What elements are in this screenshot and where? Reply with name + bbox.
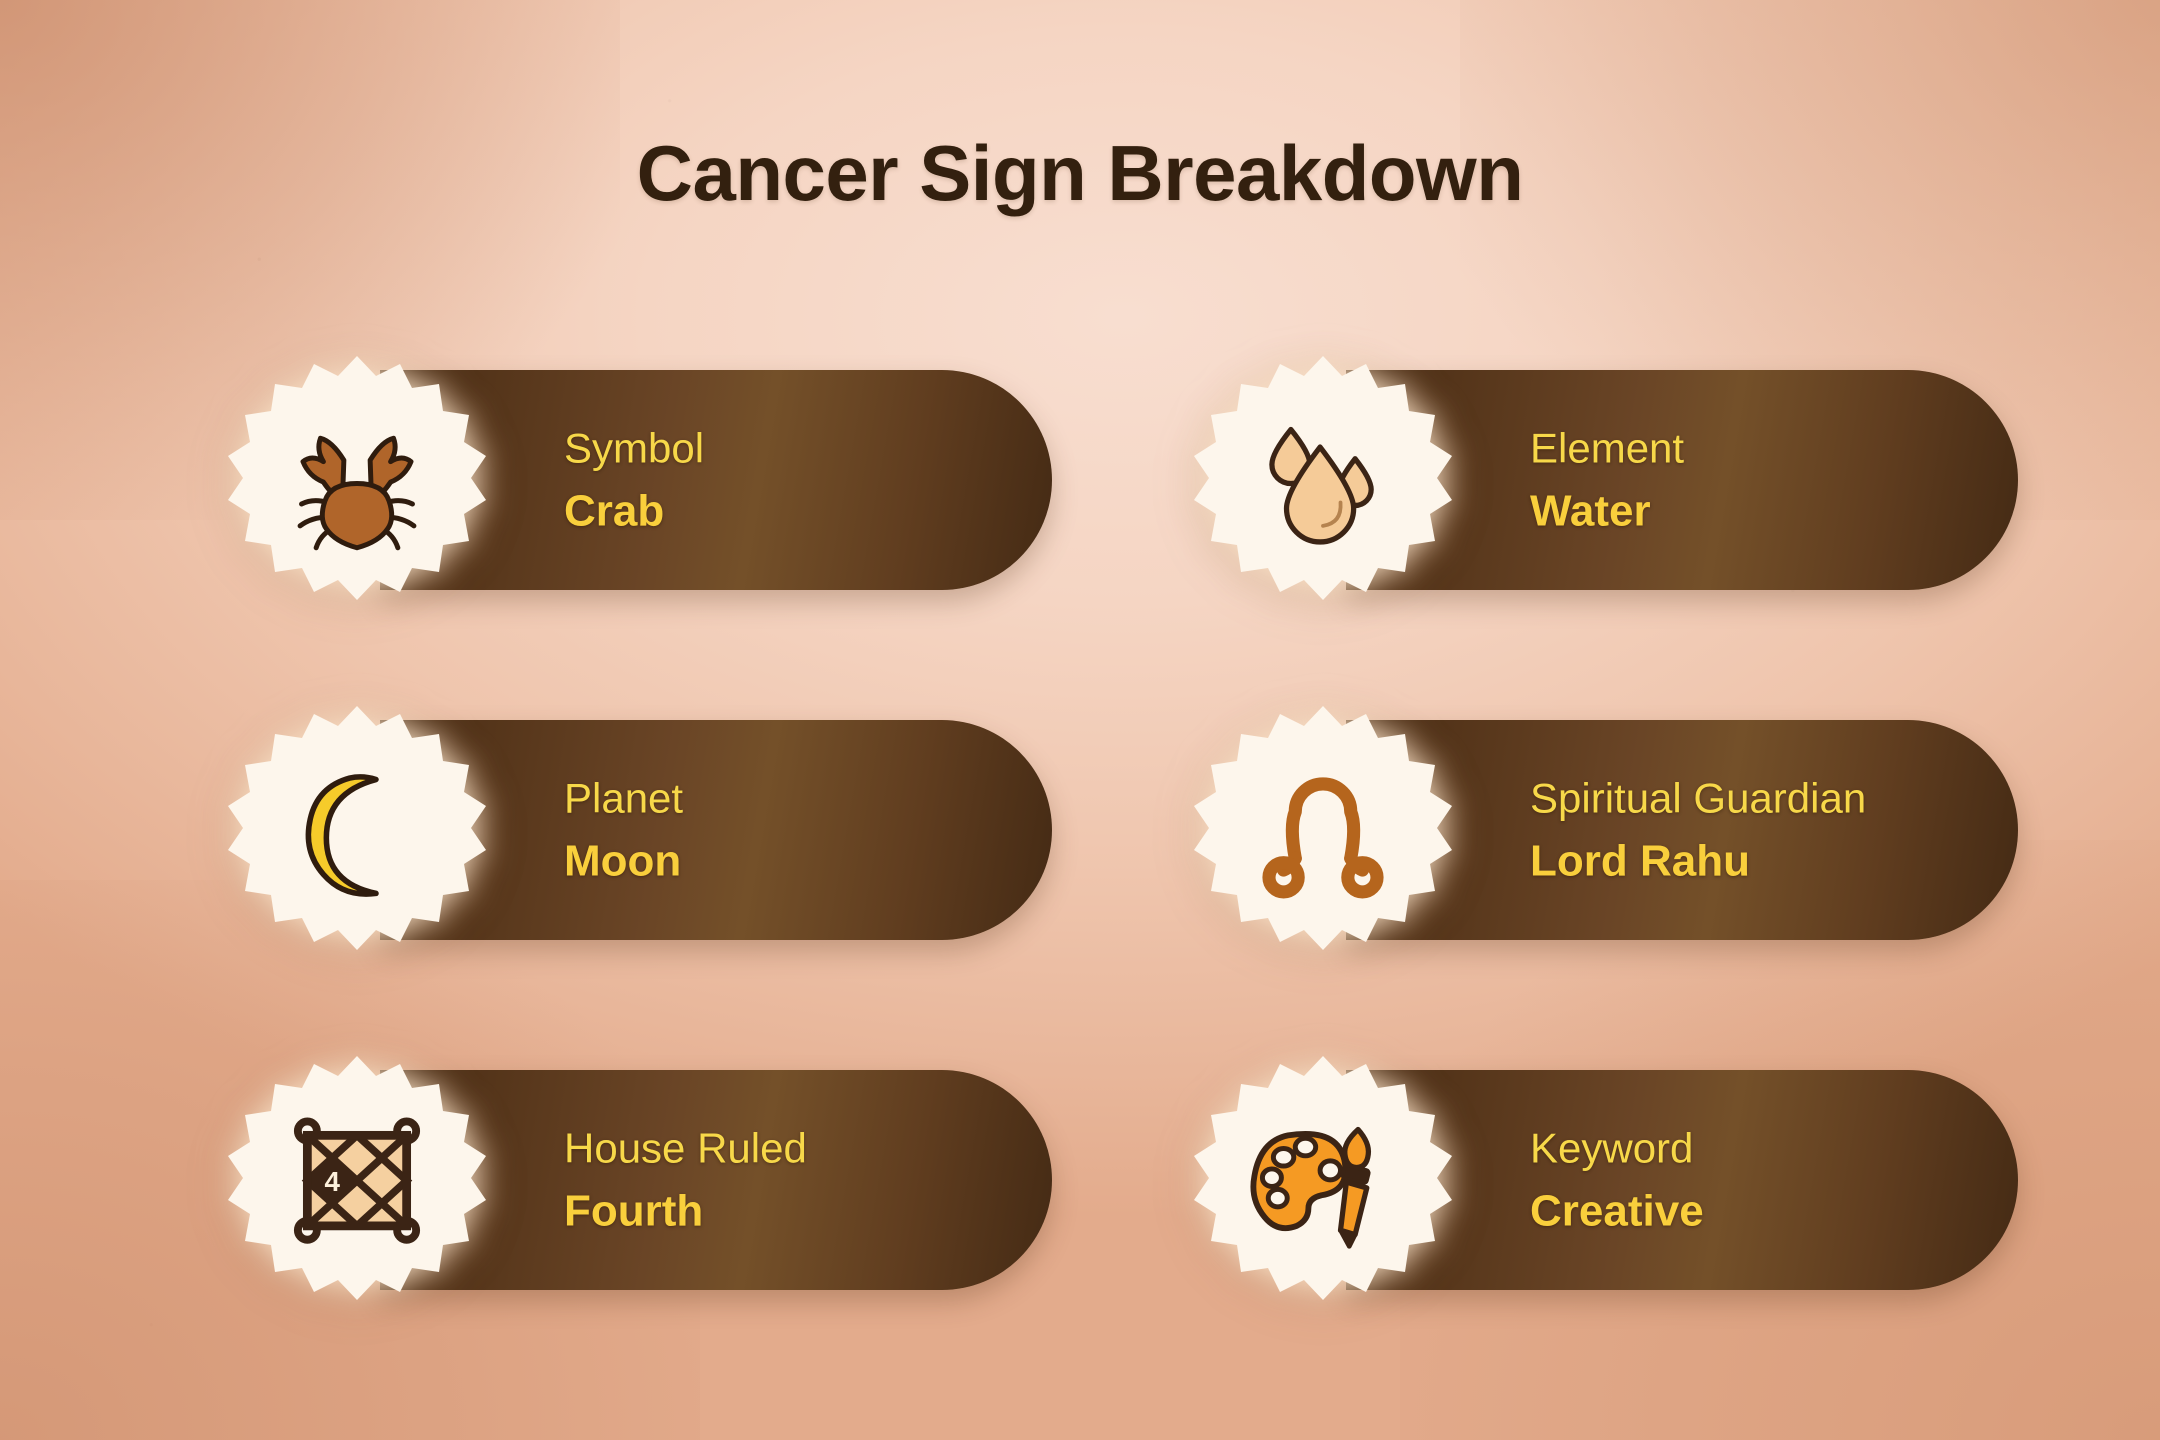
attribute-label: Element xyxy=(1530,423,1684,473)
attribute-text-block: Planet Moon xyxy=(564,773,683,886)
attribute-text-block: Element Water xyxy=(1530,423,1684,536)
attribute-badge: 4 xyxy=(222,1050,492,1320)
attribute-label: Spiritual Guardian xyxy=(1530,773,1866,823)
attribute-badge xyxy=(1188,700,1458,970)
attribute-value: Lord Rahu xyxy=(1530,835,1866,887)
attribute-card-house-ruled[interactable]: House Ruled Fourth 4 xyxy=(222,1050,1052,1310)
attribute-text-block: Spiritual Guardian Lord Rahu xyxy=(1530,773,1866,886)
attribute-badge xyxy=(222,700,492,970)
attribute-value: Moon xyxy=(564,835,683,887)
attribute-label: Keyword xyxy=(1530,1123,1704,1173)
rahu-symbol-icon xyxy=(1188,700,1458,970)
attribute-text-block: Keyword Creative xyxy=(1530,1123,1704,1236)
crab-icon xyxy=(222,350,492,620)
attribute-value: Crab xyxy=(564,485,704,537)
attribute-text-block: House Ruled Fourth xyxy=(564,1123,807,1236)
attribute-label: House Ruled xyxy=(564,1123,807,1173)
attribute-card-planet[interactable]: Planet Moon xyxy=(222,700,1052,960)
house-lattice-icon: 4 xyxy=(222,1050,492,1320)
house-number-label: 4 xyxy=(324,1166,340,1197)
attribute-badge xyxy=(222,350,492,620)
attribute-card-grid: Symbol Crab xyxy=(0,350,2160,1340)
attribute-text-block: Symbol Crab xyxy=(564,423,704,536)
attribute-value: Water xyxy=(1530,485,1684,537)
water-droplets-icon xyxy=(1188,350,1458,620)
crescent-moon-icon xyxy=(222,700,492,970)
page-title: Cancer Sign Breakdown xyxy=(0,128,2160,219)
attribute-card-keyword[interactable]: Keyword Creative xyxy=(1188,1050,2018,1310)
attribute-card-symbol[interactable]: Symbol Crab xyxy=(222,350,1052,610)
attribute-label: Symbol xyxy=(564,423,704,473)
palette-brush-icon xyxy=(1188,1050,1458,1320)
attribute-value: Creative xyxy=(1530,1185,1704,1237)
attribute-card-element[interactable]: Element Water xyxy=(1188,350,2018,610)
attribute-value: Fourth xyxy=(564,1185,807,1237)
attribute-badge xyxy=(1188,1050,1458,1320)
attribute-label: Planet xyxy=(564,773,683,823)
attribute-card-spiritual-guardian[interactable]: Spiritual Guardian Lord Rahu xyxy=(1188,700,2018,960)
attribute-badge xyxy=(1188,350,1458,620)
